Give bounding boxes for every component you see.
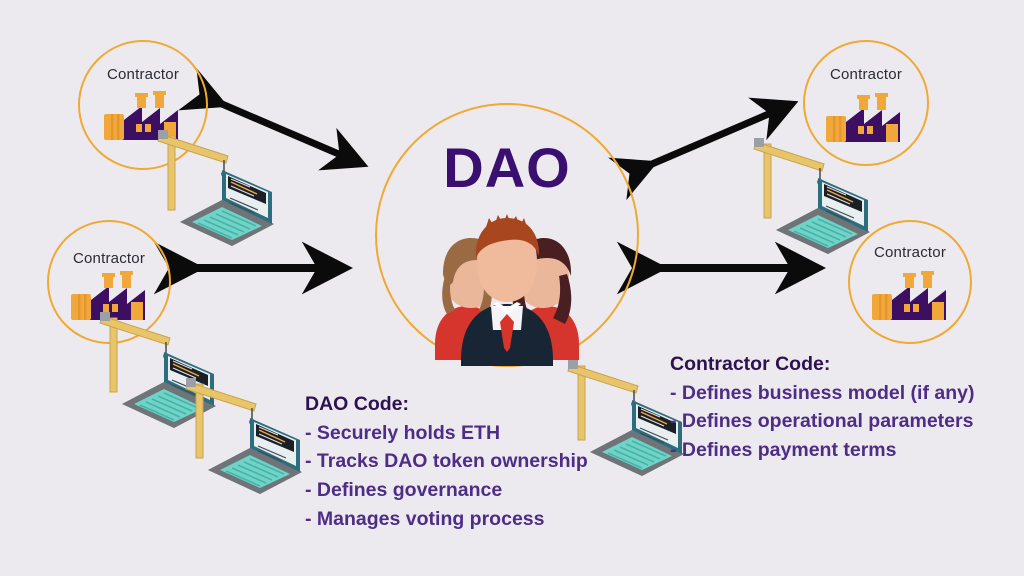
diagram-canvas: DAO	[0, 0, 1024, 576]
dao-code-item-2: - Defines governance	[305, 476, 588, 505]
dao-code-item-0: - Securely holds ETH	[305, 419, 588, 448]
page-title: DAO	[375, 140, 639, 196]
crane-laptop-bottom-left	[186, 378, 302, 494]
contractor-top-right-circle[interactable]	[803, 40, 929, 166]
contractor-code-heading: Contractor Code:	[670, 350, 974, 379]
contractor-top-right-label: Contractor	[803, 66, 929, 83]
arrow-top-left	[222, 104, 362, 164]
contractor-top-left-label: Contractor	[78, 66, 208, 83]
contractor-mid-right-circle[interactable]	[848, 220, 972, 344]
contractor-mid-left-label: Contractor	[47, 250, 171, 267]
arrow-top-right	[652, 104, 792, 164]
contractor-mid-left-circle[interactable]	[47, 220, 171, 344]
dao-code-heading: DAO Code:	[305, 390, 588, 419]
contractor-mid-right-label: Contractor	[848, 244, 972, 261]
contractor-code-item-0: - Defines business model (if any)	[670, 379, 974, 408]
contractor-code-item-1: - Defines operational parameters	[670, 407, 974, 436]
dao-code-block: DAO Code: - Securely holds ETH - Tracks …	[305, 390, 588, 533]
dao-code-item-1: - Tracks DAO token ownership	[305, 447, 588, 476]
dao-code-item-3: - Manages voting process	[305, 505, 588, 534]
contractor-code-block: Contractor Code: - Defines business mode…	[670, 350, 974, 465]
contractor-code-item-2: - Defines payment terms	[670, 436, 974, 465]
contractor-top-left-circle[interactable]	[78, 40, 208, 170]
